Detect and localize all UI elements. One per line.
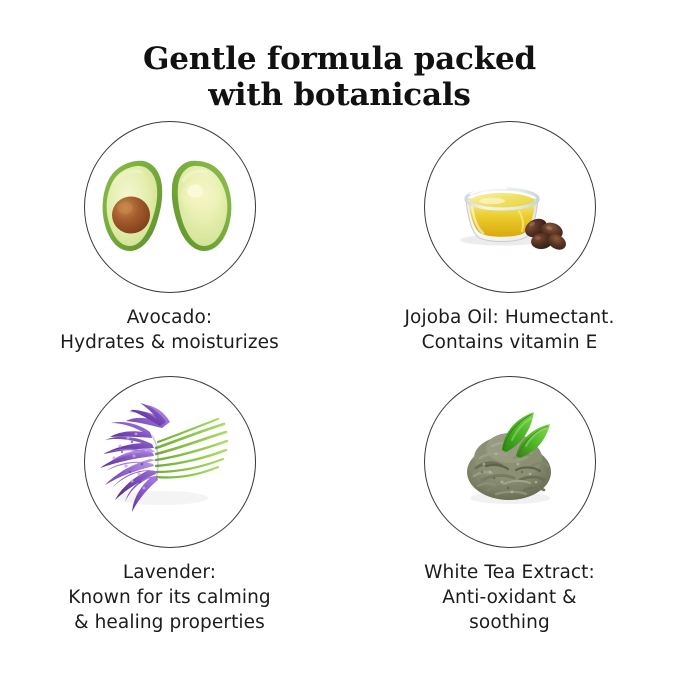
ingredient-card-jojoba-oil: Jojoba Oil: Humectant. Contains vitamin …: [340, 110, 679, 355]
ingredient-card-lavender: Lavender: Known for its calming & healin…: [0, 365, 339, 635]
lavender-bouquet-icon: [84, 376, 256, 548]
caption-line-2: Known for its calming: [0, 585, 339, 610]
caption-line-2: Hydrates & moisturizes: [0, 330, 339, 355]
page-title: Gentle formula packed with botanicals: [0, 41, 679, 113]
white-tea-caption: White Tea Extract: Anti-oxidant & soothi…: [340, 560, 679, 635]
page-title-line-1: Gentle formula packed: [0, 41, 679, 77]
caption-line-1: Jojoba Oil: Humectant.: [340, 305, 679, 330]
jojoba-oil-bowl-icon: [424, 121, 596, 293]
avocado-circle: [84, 121, 256, 293]
page-title-line-2: with botanicals: [0, 77, 679, 113]
dried-tea-leaves-icon: [424, 376, 596, 548]
caption-line-2: Anti-oxidant &: [340, 585, 679, 610]
caption-line-2: Contains vitamin E: [340, 330, 679, 355]
avocado-seed-cavity: [180, 178, 222, 216]
avocado-halves-icon: [84, 121, 256, 293]
avocado-pit: [112, 197, 150, 234]
avocado-half-left: [102, 161, 162, 251]
avocado-half-right: [171, 161, 231, 251]
ingredient-grid: Avocado: Hydrates & moisturizes: [0, 110, 679, 670]
jojoba-oil-caption: Jojoba Oil: Humectant. Contains vitamin …: [340, 305, 679, 355]
caption-line-3: soothing: [340, 610, 679, 635]
caption-line-1: White Tea Extract:: [340, 560, 679, 585]
ingredient-card-white-tea-extract: White Tea Extract: Anti-oxidant & soothi…: [340, 365, 679, 635]
lavender-stems: [156, 419, 227, 477]
lavender-caption: Lavender: Known for its calming & healin…: [0, 560, 339, 635]
infographic-page: Gentle formula packed with botanicals: [0, 0, 679, 679]
lavender-circle: [84, 376, 256, 548]
white-tea-circle: [424, 376, 596, 548]
ingredient-card-avocado: Avocado: Hydrates & moisturizes: [0, 110, 339, 355]
jojoba-oil-circle: [424, 121, 596, 293]
avocado-caption: Avocado: Hydrates & moisturizes: [0, 305, 339, 355]
caption-line-3: & healing properties: [0, 610, 339, 635]
caption-line-1: Avocado:: [0, 305, 339, 330]
caption-line-1: Lavender:: [0, 560, 339, 585]
